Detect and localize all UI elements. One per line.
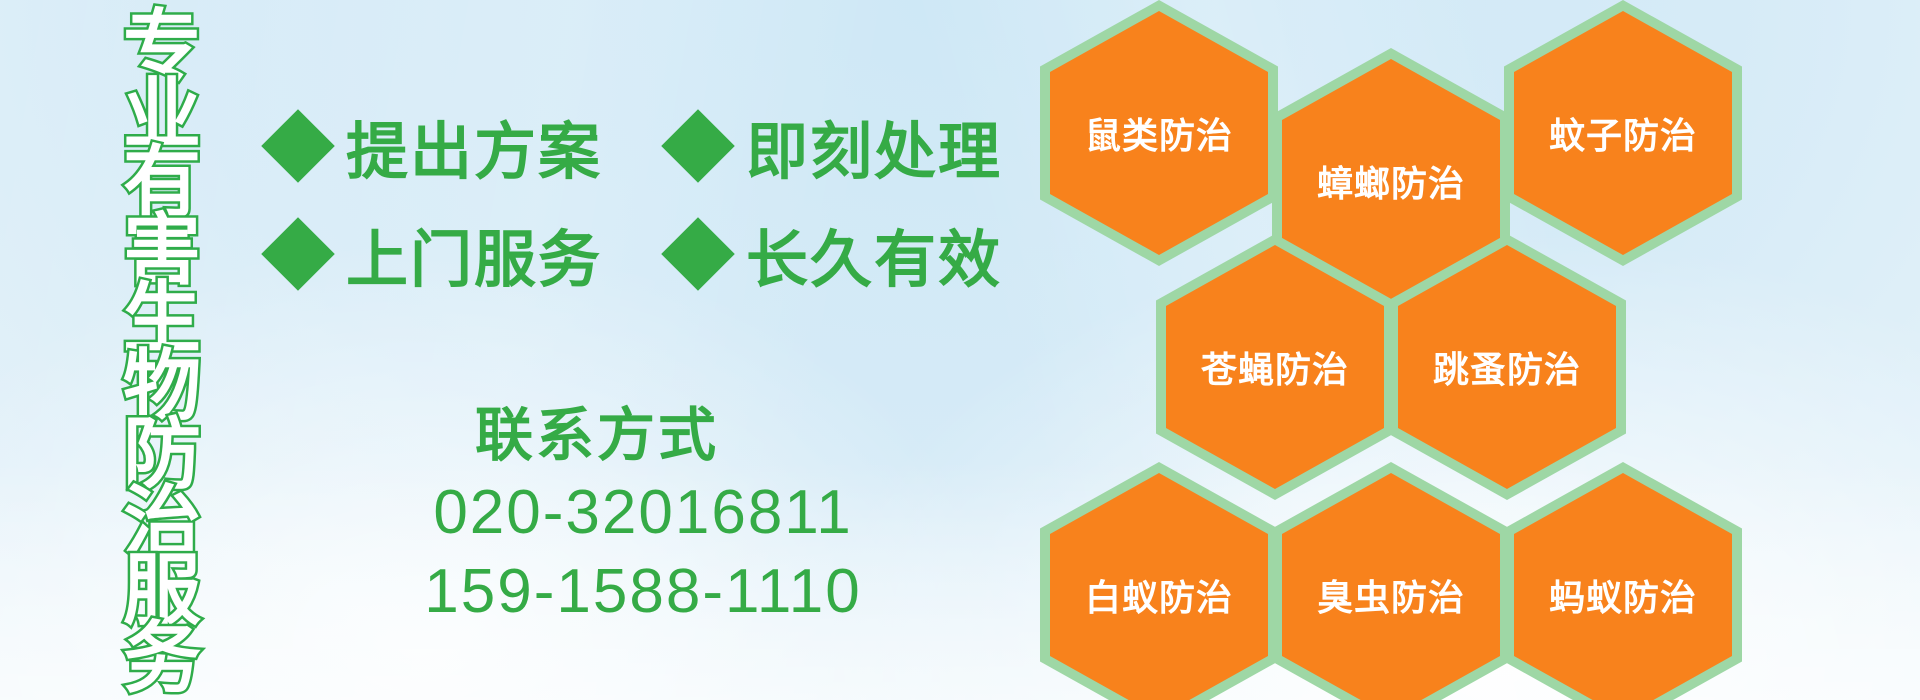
service-label: 蟑螂防治 (1317, 155, 1465, 207)
diamond-icon (661, 217, 735, 291)
service-label: 苍蝇防治 (1201, 341, 1349, 393)
headline-char: 害 (123, 212, 201, 280)
hex-fill: 蚂蚁防治 (1514, 473, 1732, 700)
service-hex-termite[interactable]: 白蚁防治 (1040, 462, 1278, 700)
hex-fill: 蚊子防治 (1514, 11, 1732, 255)
service-hex-rodent[interactable]: 鼠类防治 (1040, 0, 1278, 266)
feature-item: 提出方案 (272, 101, 672, 191)
pest-control-banner: 专 业 有 害 生 物 防 治 服 务 提出方案 即刻处理 上门服务 (0, 0, 1920, 700)
hex-fill: 苍蝇防治 (1166, 245, 1384, 489)
feature-label: 提出方案 (346, 101, 602, 191)
diamond-icon (261, 109, 335, 183)
service-label: 白蚁防治 (1085, 569, 1233, 621)
service-label: 鼠类防治 (1085, 107, 1233, 159)
hex-fill: 臭虫防治 (1282, 473, 1500, 700)
headline-char: 有 (123, 144, 201, 212)
feature-item: 长久有效 (672, 209, 1002, 299)
headline-char: 服 (123, 552, 201, 620)
hex-fill: 鼠类防治 (1050, 11, 1268, 255)
service-hex-bedbug[interactable]: 臭虫防治 (1272, 462, 1510, 700)
hex-fill: 白蚁防治 (1050, 473, 1268, 700)
contact-heading: 联系方式 (122, 400, 1072, 473)
phone-number-landline[interactable]: 020-32016811 (214, 473, 1072, 552)
service-honeycomb: 鼠类防治 蟑螂防治 蚊子防治 苍蝇防治 跳蚤防治 白蚁防治 (1040, 0, 1880, 700)
feature-item: 上门服务 (272, 209, 672, 299)
diamond-icon (661, 109, 735, 183)
service-label: 蚊子防治 (1549, 107, 1697, 159)
headline-char: 生 (123, 280, 201, 348)
feature-label: 长久有效 (746, 209, 1002, 299)
headline-char: 治 (123, 484, 201, 552)
hex-fill: 跳蚤防治 (1398, 245, 1616, 489)
service-label: 臭虫防治 (1317, 569, 1465, 621)
service-hex-mosquito[interactable]: 蚊子防治 (1504, 0, 1742, 266)
feature-row: 提出方案 即刻处理 (272, 92, 1072, 200)
feature-list: 提出方案 即刻处理 上门服务 长久有效 (272, 92, 1072, 308)
phone-number-mobile[interactable]: 159-1588-1110 (214, 552, 1072, 631)
contact-block: 联系方式 020-32016811 159-1588-1110 (272, 400, 1072, 631)
feature-item: 即刻处理 (672, 101, 1002, 191)
headline-char: 务 (123, 620, 201, 688)
feature-label: 即刻处理 (746, 101, 1002, 191)
diamond-icon (261, 217, 335, 291)
service-label: 蚂蚁防治 (1549, 569, 1697, 621)
service-hex-ant[interactable]: 蚂蚁防治 (1504, 462, 1742, 700)
vertical-headline: 专 业 有 害 生 物 防 治 服 务 (108, 8, 216, 688)
service-label: 跳蚤防治 (1433, 341, 1581, 393)
feature-row: 上门服务 长久有效 (272, 200, 1072, 308)
headline-char: 专 (123, 8, 201, 76)
feature-label: 上门服务 (346, 209, 602, 299)
headline-char: 业 (123, 76, 201, 144)
